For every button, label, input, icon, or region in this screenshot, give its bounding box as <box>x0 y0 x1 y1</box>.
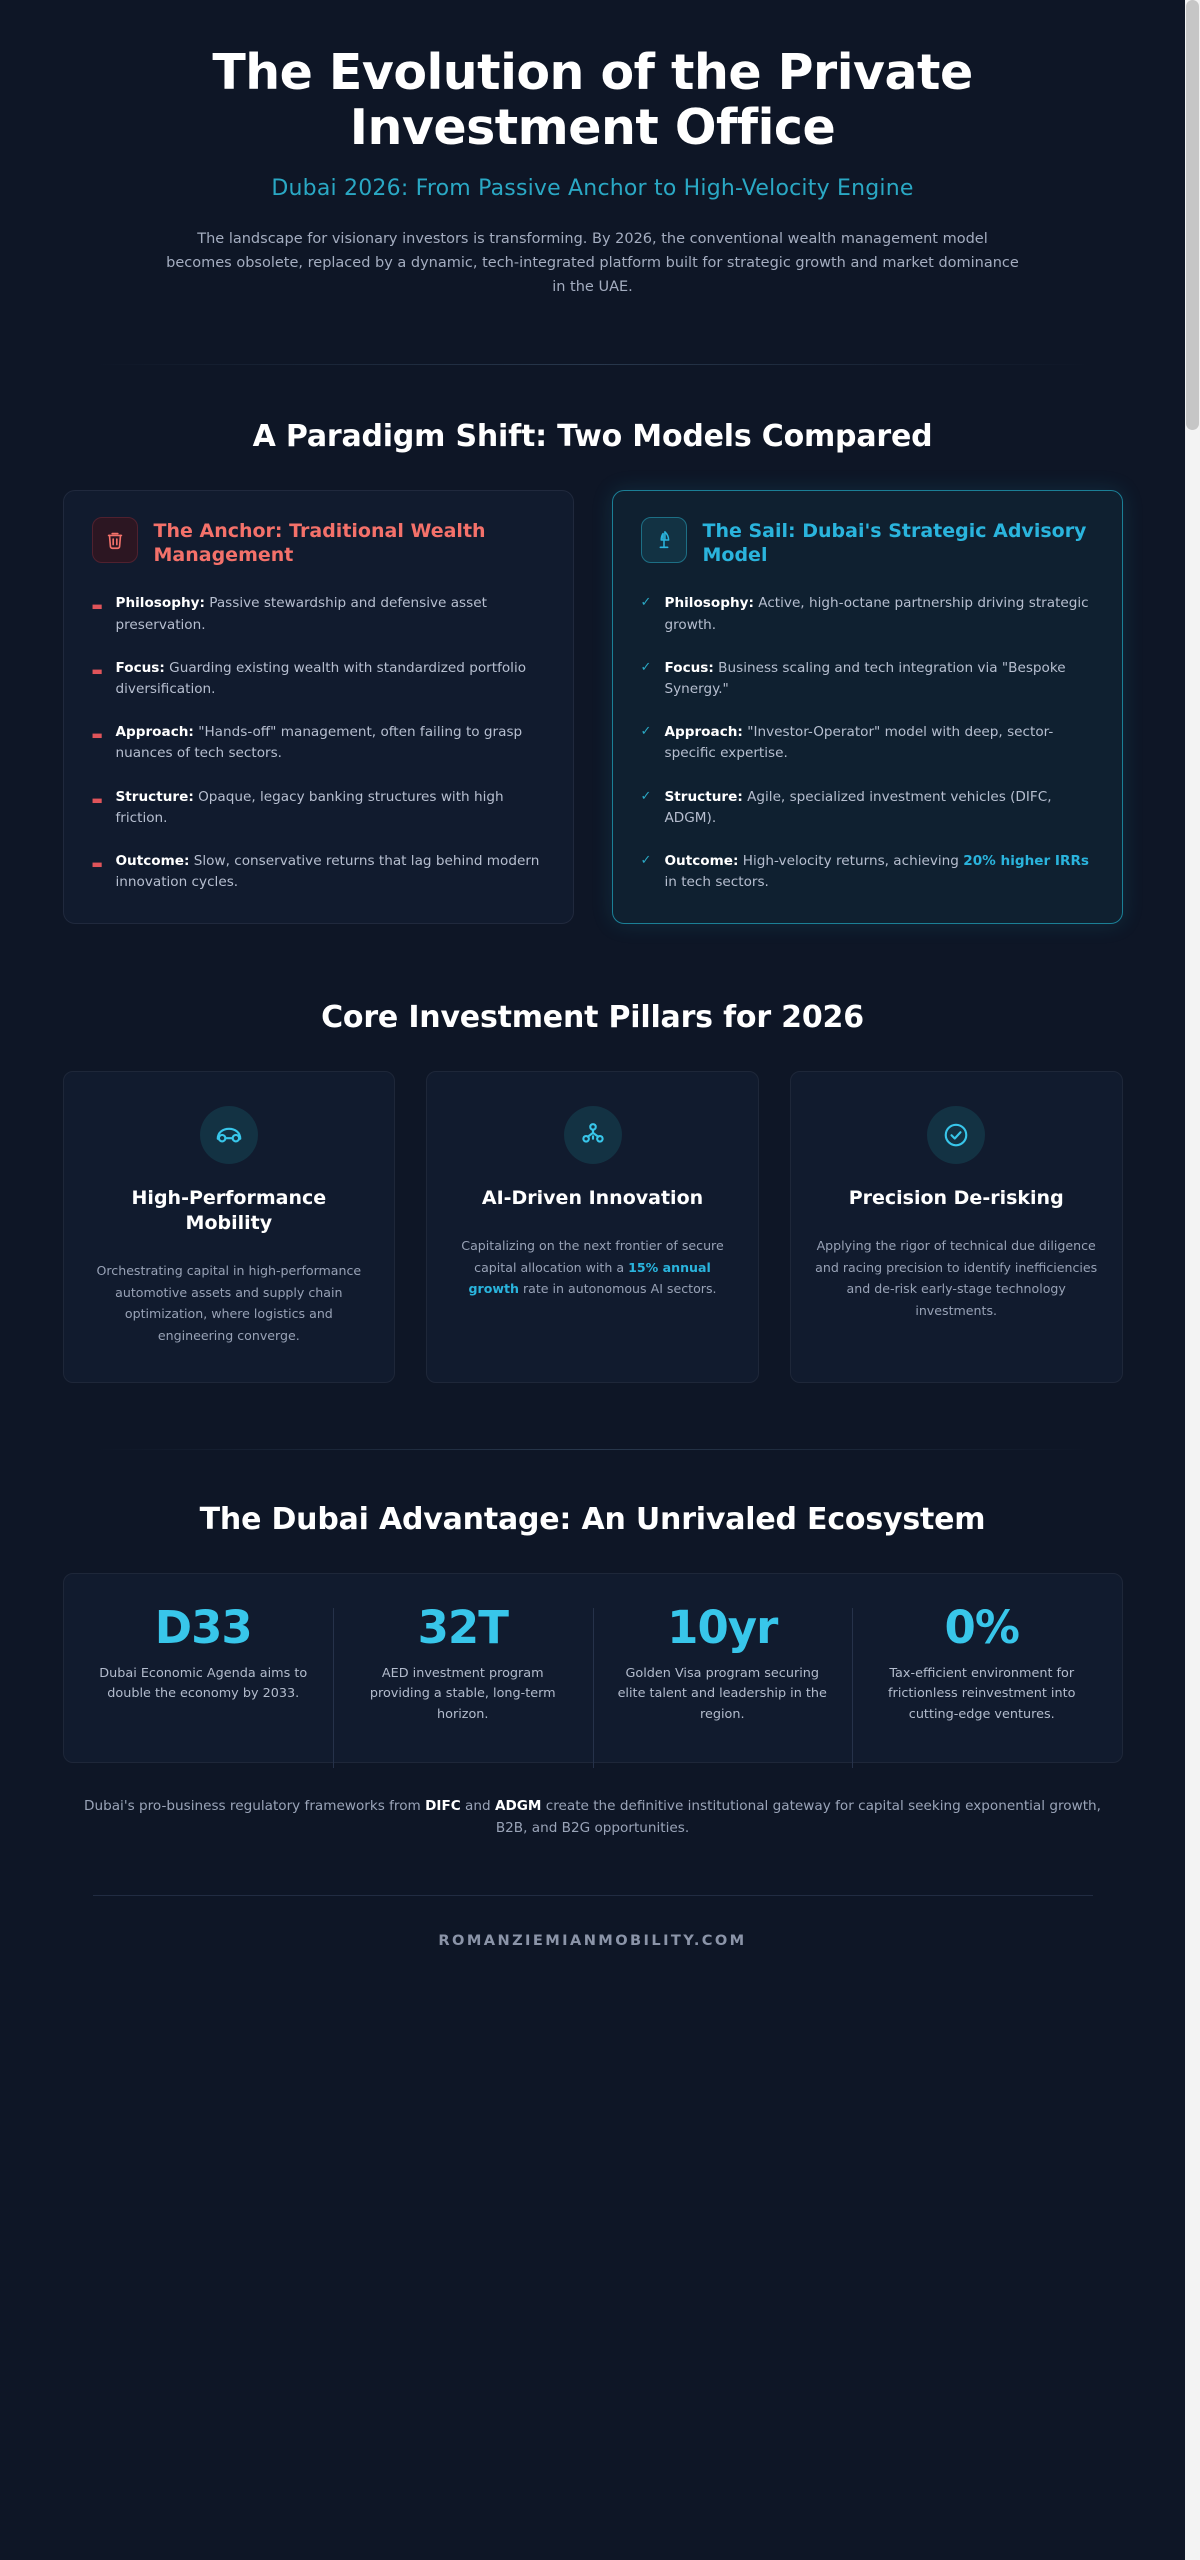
note-before: Dubai's pro-business regulatory framewor… <box>84 1798 425 1814</box>
stat-value: 10yr <box>613 1604 833 1651</box>
anchor-card-title: The Anchor: Traditional Wealth Managemen… <box>154 517 545 568</box>
bullet-label: Focus: <box>665 660 714 676</box>
stat-item: D33 Dubai Economic Agenda aims to double… <box>74 1604 334 1725</box>
check-bullet-icon: ✓ <box>641 593 654 635</box>
pillar-description: Orchestrating capital in high-performanc… <box>88 1260 371 1347</box>
dash-bullet-icon: ▬ <box>92 722 105 764</box>
bullet-label: Approach: <box>665 724 743 740</box>
bullet-label: Focus: <box>116 660 165 676</box>
stat-value: 0% <box>872 1604 1092 1651</box>
stat-label: AED investment program providing a stabl… <box>353 1664 573 1726</box>
scrollbar-thumb[interactable] <box>1186 0 1199 430</box>
list-item: ▬Structure: Opaque, legacy banking struc… <box>92 787 545 829</box>
sail-card-header: The Sail: Dubai's Strategic Advisory Mod… <box>641 517 1094 568</box>
bullet-text: High-velocity returns, achieving <box>738 853 963 869</box>
check-circle-icon <box>927 1106 985 1164</box>
regulatory-note: Dubai's pro-business regulatory framewor… <box>83 1795 1103 1839</box>
footer-brand: ROMANZIEMIANMOBILITY.COM <box>0 1896 1185 1997</box>
sail-bullet-list: ✓Philosophy: Active, high-octane partner… <box>641 593 1094 893</box>
bullet-text: Guarding existing wealth with standardiz… <box>116 660 527 697</box>
comparison-section: A Paradigm Shift: Two Models Compared Th… <box>0 365 1185 925</box>
note-mid: and <box>461 1798 495 1814</box>
stat-label: Golden Visa program securing elite talen… <box>613 1664 833 1726</box>
pillar-description: Capitalizing on the next frontier of sec… <box>451 1235 734 1300</box>
list-item: ▬Outcome: Slow, conservative returns tha… <box>92 851 545 893</box>
infographic-page: The Evolution of the Private Investment … <box>0 0 1185 2560</box>
note-after: create the definitive institutional gate… <box>496 1798 1101 1836</box>
hero-section: The Evolution of the Private Investment … <box>63 0 1123 310</box>
pillar-card-derisking: Precision De-risking Applying the rigor … <box>790 1071 1123 1383</box>
pillar-title: High-Performance Mobility <box>88 1186 371 1235</box>
stat-label: Dubai Economic Agenda aims to double the… <box>94 1664 314 1705</box>
bullet-text: Business scaling and tech integration vi… <box>665 660 1066 697</box>
list-item: ▬Focus: Guarding existing wealth with st… <box>92 658 545 700</box>
stat-label: Tax-efficient environment for frictionle… <box>872 1664 1092 1726</box>
check-bullet-icon: ✓ <box>641 851 654 893</box>
list-item: ✓Focus: Business scaling and tech integr… <box>641 658 1094 700</box>
stat-value: D33 <box>94 1604 314 1651</box>
stat-item: 10yr Golden Visa program securing elite … <box>593 1604 853 1725</box>
stat-value: 32T <box>353 1604 573 1651</box>
page-scrollbar[interactable] <box>1185 0 1200 2560</box>
pillar-title: Precision De-risking <box>815 1186 1098 1211</box>
advantage-heading: The Dubai Advantage: An Unrivaled Ecosys… <box>0 1502 1185 1537</box>
list-item: ▬Approach: "Hands-off" management, often… <box>92 722 545 764</box>
stat-item: 32T AED investment program providing a s… <box>333 1604 593 1725</box>
note-difc: DIFC <box>425 1798 461 1814</box>
comparison-heading: A Paradigm Shift: Two Models Compared <box>0 419 1185 454</box>
sail-card: The Sail: Dubai's Strategic Advisory Mod… <box>612 490 1123 925</box>
bullet-label: Philosophy: <box>116 595 205 611</box>
sail-card-title: The Sail: Dubai's Strategic Advisory Mod… <box>703 517 1094 568</box>
stats-panel: D33 Dubai Economic Agenda aims to double… <box>63 1573 1123 1762</box>
pillar-description: Applying the rigor of technical due dili… <box>815 1235 1098 1322</box>
page-subtitle: Dubai 2026: From Passive Anchor to High-… <box>63 176 1123 201</box>
pillars-heading: Core Investment Pillars for 2026 <box>0 1000 1185 1035</box>
car-mobility-icon <box>200 1106 258 1164</box>
anchor-card: The Anchor: Traditional Wealth Managemen… <box>63 490 574 925</box>
list-item: ▬Philosophy: Passive stewardship and def… <box>92 593 545 635</box>
pillar-card-mobility: High-Performance Mobility Orchestrating … <box>63 1071 396 1383</box>
list-item: ✓Structure: Agile, specialized investmen… <box>641 787 1094 829</box>
stat-item: 0% Tax-efficient environment for frictio… <box>852 1604 1112 1725</box>
dash-bullet-icon: ▬ <box>92 851 105 893</box>
bullet-label: Structure: <box>665 789 743 805</box>
dash-bullet-icon: ▬ <box>92 658 105 700</box>
dash-bullet-icon: ▬ <box>92 787 105 829</box>
sail-boat-icon <box>641 517 687 563</box>
pillars-section: Core Investment Pillars for 2026 High-Pe… <box>0 924 1185 1383</box>
pillar-title: AI-Driven Innovation <box>451 1186 734 1211</box>
pillar-desc-after: rate in autonomous AI sectors. <box>519 1281 717 1296</box>
check-bullet-icon: ✓ <box>641 658 654 700</box>
advantage-section: The Dubai Advantage: An Unrivaled Ecosys… <box>0 1450 1185 1838</box>
intro-paragraph: The landscape for visionary investors is… <box>165 227 1020 300</box>
anchor-card-header: The Anchor: Traditional Wealth Managemen… <box>92 517 545 568</box>
pillar-cards: High-Performance Mobility Orchestrating … <box>63 1071 1123 1383</box>
comparison-cards: The Anchor: Traditional Wealth Managemen… <box>63 490 1123 925</box>
bullet-highlight: 20% higher IRRs <box>963 853 1089 869</box>
page-title: The Evolution of the Private Investment … <box>128 46 1058 156</box>
pillar-card-ai: AI-Driven Innovation Capitalizing on the… <box>426 1071 759 1383</box>
bullet-label: Approach: <box>116 724 194 740</box>
bullet-text-after: in tech sectors. <box>665 874 769 890</box>
anchor-bullet-list: ▬Philosophy: Passive stewardship and def… <box>92 593 545 893</box>
bullet-label: Philosophy: <box>665 595 754 611</box>
check-bullet-icon: ✓ <box>641 722 654 764</box>
check-bullet-icon: ✓ <box>641 787 654 829</box>
dash-bullet-icon: ▬ <box>92 593 105 635</box>
network-nodes-icon <box>564 1106 622 1164</box>
list-item: ✓Philosophy: Active, high-octane partner… <box>641 593 1094 635</box>
list-item: ✓Approach: "Investor-Operator" model wit… <box>641 722 1094 764</box>
bullet-label: Outcome: <box>665 853 739 869</box>
anchor-trash-icon <box>92 517 138 563</box>
bullet-label: Outcome: <box>116 853 190 869</box>
note-adgm: ADGM <box>495 1798 542 1814</box>
list-item: ✓Outcome: High-velocity returns, achievi… <box>641 851 1094 893</box>
bullet-label: Structure: <box>116 789 194 805</box>
